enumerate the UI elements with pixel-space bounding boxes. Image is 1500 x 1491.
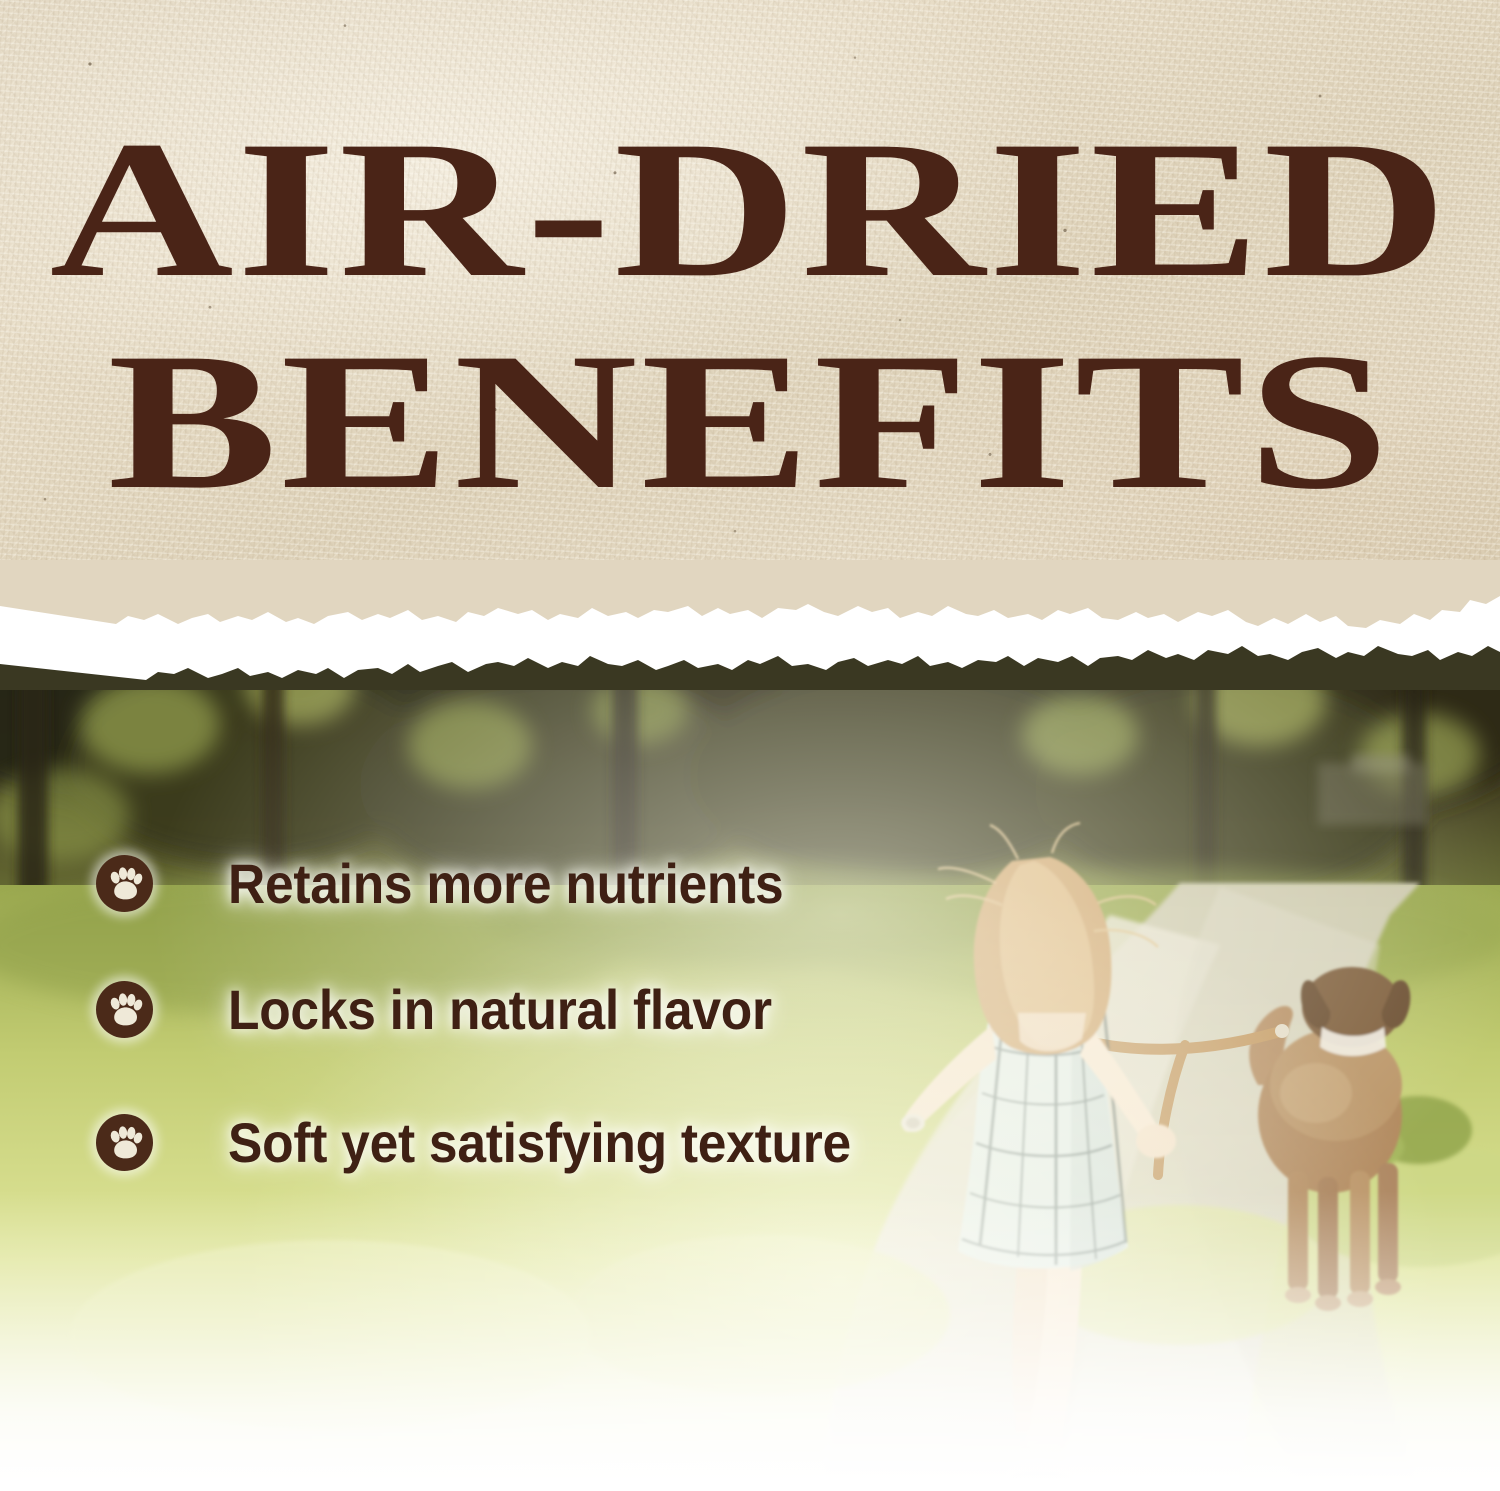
- benefits-list: Retains more nutrients Locks in natural …: [0, 615, 1500, 1491]
- page-title: AIR-DRIED BENEFITS: [0, 0, 1500, 514]
- list-item: Locks in natural flavor: [96, 981, 819, 1038]
- list-item: Retains more nutrients: [96, 855, 832, 912]
- title-line-1: AIR-DRIED: [0, 0, 1500, 302]
- paw-icon: [96, 1114, 153, 1171]
- paw-icon: [96, 981, 153, 1038]
- list-item-label: Soft yet satisfying texture: [228, 1115, 851, 1171]
- paw-icon: [96, 855, 153, 912]
- list-item-label: Retains more nutrients: [228, 856, 783, 912]
- list-item-label: Locks in natural flavor: [228, 982, 772, 1038]
- poster-root: AIR-DRIED BENEFITS: [0, 0, 1500, 1491]
- title-line-2: BENEFITS: [0, 302, 1500, 514]
- list-item: Soft yet satisfying texture: [96, 1114, 905, 1171]
